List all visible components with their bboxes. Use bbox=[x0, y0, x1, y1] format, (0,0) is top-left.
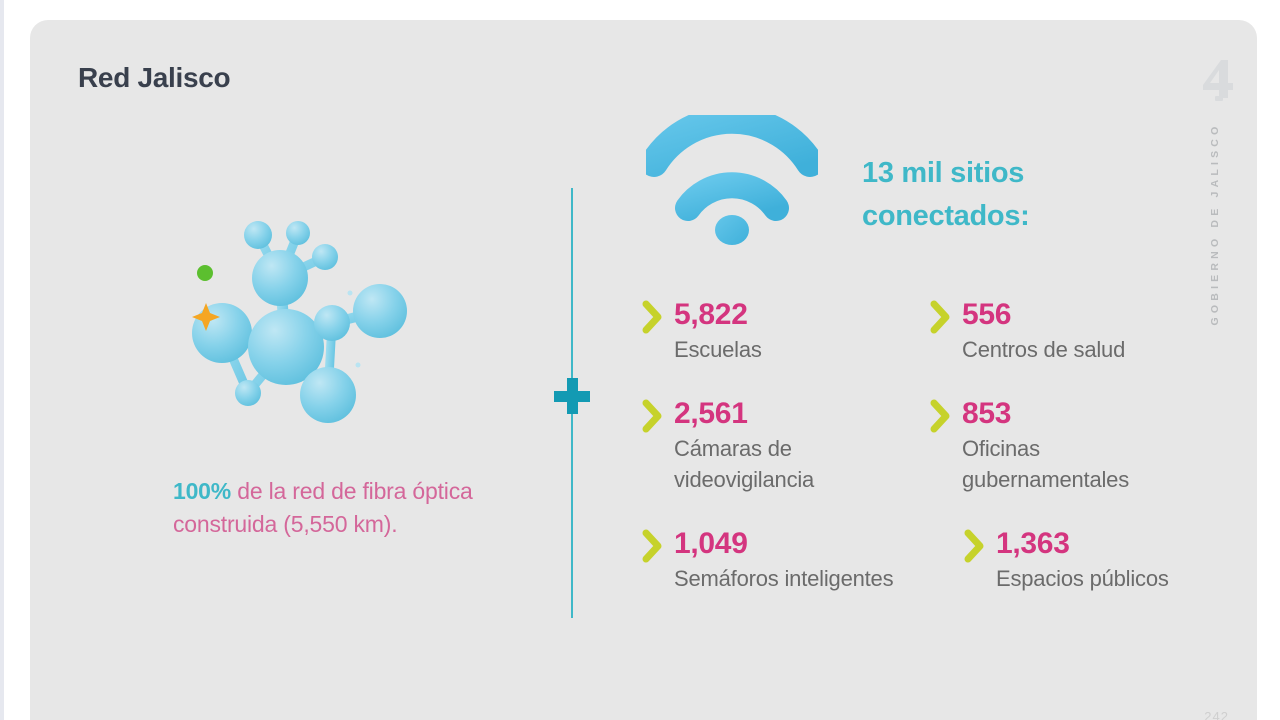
stat-value: 1,049 bbox=[674, 527, 930, 561]
stat-label: Cámaras de videovigilancia bbox=[674, 433, 854, 495]
content-card: Red Jalisco bbox=[30, 20, 1257, 720]
stat-label: Espacios públicos bbox=[996, 563, 1230, 594]
plus-icon bbox=[554, 378, 590, 414]
network-molecule-icon bbox=[180, 215, 430, 430]
stats-grid: 5,822 Escuelas 556 Centros de salud bbox=[642, 298, 1242, 594]
fiber-percent-value: 100% bbox=[173, 478, 231, 504]
slide-canvas: Red Jalisco bbox=[0, 0, 1280, 720]
connected-heading-line-1: 13 mil sitios bbox=[862, 152, 1192, 195]
chevron-right-icon bbox=[930, 399, 952, 433]
chevron-right-icon bbox=[642, 529, 664, 563]
brand-strip: GOBIERNO DE JALISCO bbox=[1185, 58, 1243, 368]
connected-heading-line-2: conectados: bbox=[862, 195, 1192, 238]
stat-item-camaras-videovigilancia: 2,561 Cámaras de videovigilancia bbox=[642, 397, 930, 495]
stat-label: Oficinas gubernamentales bbox=[962, 433, 1182, 495]
stats-row: 5,822 Escuelas 556 Centros de salud bbox=[642, 298, 1242, 365]
fiber-optic-statement: 100% de la red de fibra óptica construid… bbox=[173, 475, 503, 541]
stat-item-escuelas: 5,822 Escuelas bbox=[642, 298, 930, 365]
stat-value: 853 bbox=[962, 397, 1230, 431]
wifi-icon bbox=[646, 115, 818, 245]
page-title: Red Jalisco bbox=[78, 62, 230, 94]
chevron-right-icon bbox=[964, 529, 986, 563]
stat-value: 2,561 bbox=[674, 397, 930, 431]
left-edge-strip bbox=[0, 0, 4, 720]
stat-label: Semáforos inteligentes bbox=[674, 563, 930, 594]
chevron-right-icon bbox=[642, 399, 664, 433]
green-dot-accent bbox=[197, 265, 213, 281]
stat-item-espacios-publicos: 1,363 Espacios públicos bbox=[930, 527, 1230, 594]
chevron-right-icon bbox=[642, 300, 664, 334]
stat-label: Escuelas bbox=[674, 334, 930, 365]
connected-sites-heading: 13 mil sitios conectados: bbox=[862, 152, 1192, 238]
page-number: 242 bbox=[1204, 709, 1229, 720]
brand-vertical-text: GOBIERNO DE JALISCO bbox=[1209, 94, 1221, 354]
stat-item-oficinas-gubernamentales: 853 Oficinas gubernamentales bbox=[930, 397, 1230, 495]
stat-value: 5,822 bbox=[674, 298, 930, 332]
chevron-right-icon bbox=[930, 300, 952, 334]
stat-item-semaforos-inteligentes: 1,049 Semáforos inteligentes bbox=[642, 527, 930, 594]
stats-row: 1,049 Semáforos inteligentes 1,363 Espac… bbox=[642, 527, 1242, 594]
stats-row: 2,561 Cámaras de videovigilancia 853 Ofi… bbox=[642, 397, 1242, 495]
stat-value: 1,363 bbox=[996, 527, 1230, 561]
